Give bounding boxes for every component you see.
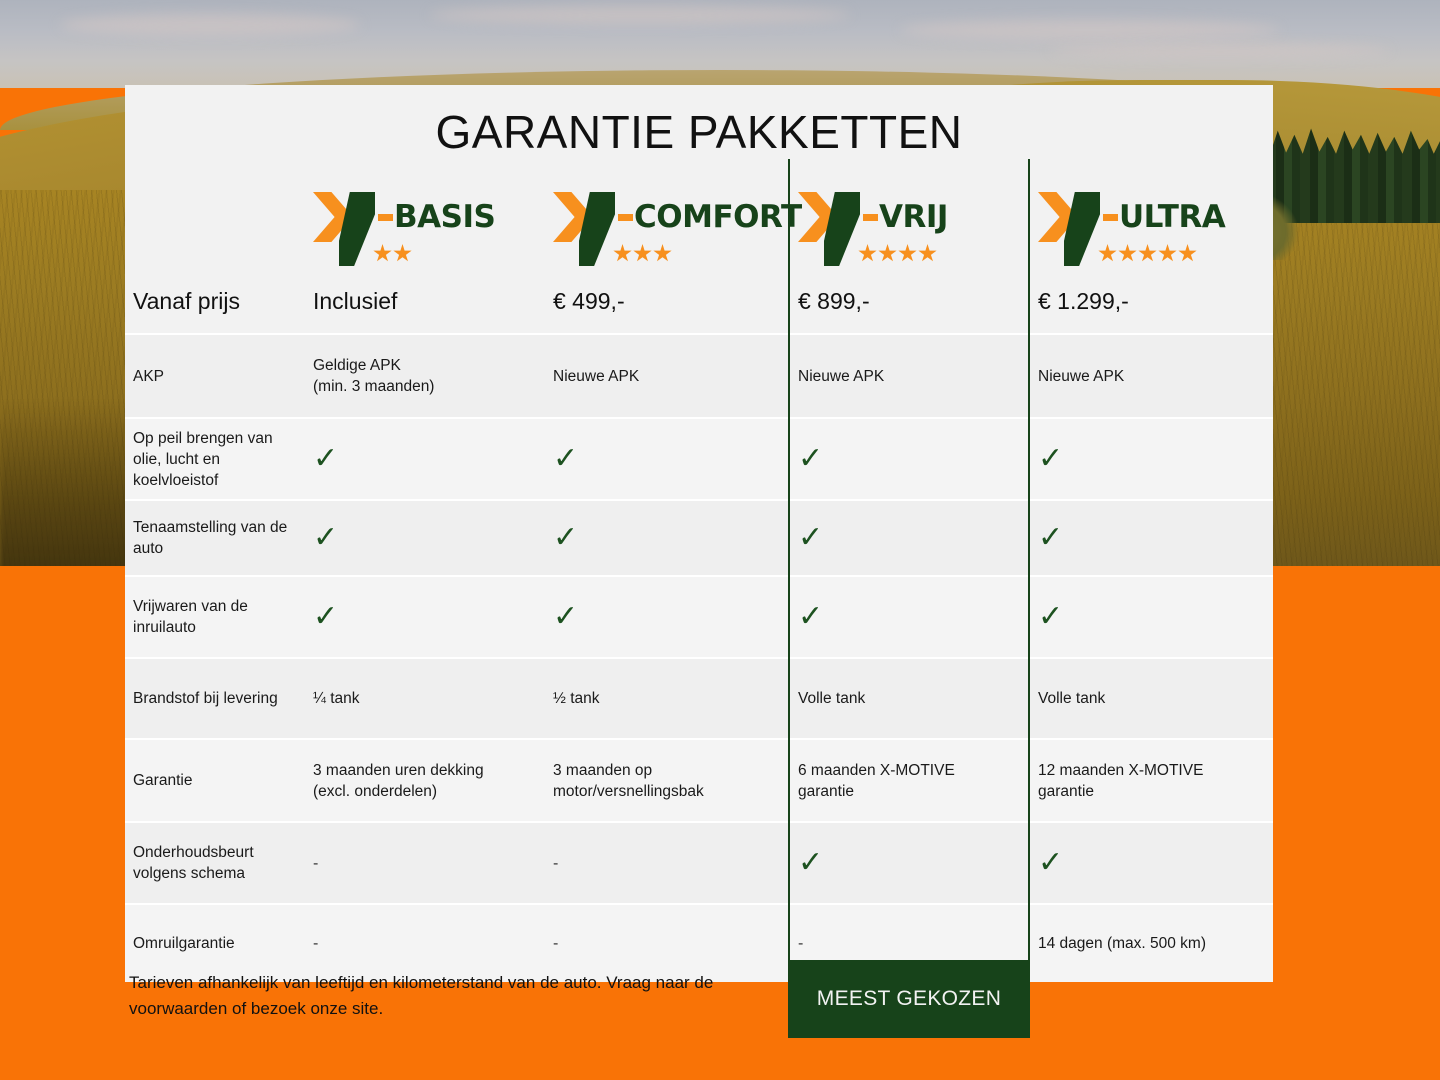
table-cell: € 499,- — [545, 270, 790, 333]
table-cell: ½ tank — [545, 659, 790, 738]
table-cell: - — [305, 823, 545, 903]
star-icon — [1118, 244, 1137, 263]
row-label: Garantie — [125, 740, 305, 821]
table-cell: 12 maanden X-MOTIVEgarantie — [1030, 740, 1273, 821]
table-cell: ✓ — [790, 577, 1030, 657]
chevron-x-icon — [798, 192, 860, 242]
dash-icon — [1103, 214, 1118, 221]
cell-text: € 499,- — [553, 291, 782, 312]
star-icon — [918, 244, 937, 263]
star-icon — [1138, 244, 1157, 263]
most-chosen-badge[interactable]: MEEST GEKOZEN — [788, 960, 1030, 1038]
cloud — [60, 14, 360, 36]
table-row: AKPGeldige APK(min. 3 maanden)Nieuwe APK… — [125, 333, 1273, 417]
pricing-card: GARANTIE PAKKETTEN BASIS — [125, 85, 1273, 953]
dash-icon — [378, 214, 393, 221]
table-cell: ✓ — [545, 419, 790, 499]
table-cell: 3 maanden opmotor/versnellingsbak — [545, 740, 790, 821]
star-icon — [393, 244, 412, 263]
table-body: Vanaf prijsInclusief€ 499,-€ 899,-€ 1.29… — [125, 270, 1273, 982]
cell-text: motor/versnellingsbak — [553, 781, 782, 802]
empty-marker: - — [553, 933, 782, 954]
dash-icon — [863, 214, 878, 221]
row-label: Tenaamstelling van de auto — [125, 501, 305, 575]
cell-text: Volle tank — [1038, 688, 1265, 709]
table-cell: ✓ — [1030, 577, 1273, 657]
table-cell: ✓ — [305, 577, 545, 657]
table-cell: Nieuwe APK — [790, 335, 1030, 417]
star-icon — [613, 244, 632, 263]
highlight-border-left — [788, 159, 790, 982]
table-cell: Nieuwe APK — [1030, 335, 1273, 417]
check-icon: ✓ — [553, 523, 782, 553]
package-header-vrij[interactable]: VRIJ — [790, 186, 1030, 264]
table-row: Vrijwaren van de inruilauto✓✓✓✓ — [125, 575, 1273, 657]
check-icon: ✓ — [1038, 523, 1265, 553]
star-icon — [373, 244, 392, 263]
cell-text: (excl. onderdelen) — [313, 781, 537, 802]
package-name: VRIJ — [879, 202, 948, 233]
cell-text: 12 maanden X-MOTIVE — [1038, 760, 1265, 781]
star-rating — [1098, 244, 1265, 264]
cell-text: Volle tank — [798, 688, 1022, 709]
chevron-x-icon — [553, 192, 615, 242]
page-title: GARANTIE PAKKETTEN — [125, 85, 1273, 159]
table-row: Vanaf prijsInclusief€ 499,-€ 899,-€ 1.29… — [125, 270, 1273, 333]
table-cell: - — [545, 823, 790, 903]
row-label: Onderhoudsbeurt volgens schema — [125, 823, 305, 903]
check-icon: ✓ — [313, 602, 537, 632]
check-icon: ✓ — [1038, 848, 1265, 878]
empty-marker: - — [313, 933, 537, 954]
comparison-table: BASIS COMFORT — [125, 159, 1273, 982]
star-icon — [878, 244, 897, 263]
table-cell: ¼ tank — [305, 659, 545, 738]
table-cell: € 1.299,- — [1030, 270, 1273, 333]
logo-x-comfort: COMFORT — [553, 186, 782, 264]
cloud — [430, 6, 850, 24]
check-icon: ✓ — [313, 444, 537, 474]
cell-text: 3 maanden op — [553, 760, 782, 781]
disclaimer-text: Tarieven afhankelijk van leeftijd en kil… — [129, 970, 769, 1022]
empty-marker: - — [798, 933, 1022, 954]
table-row: Brandstof bij levering¼ tank½ tankVolle … — [125, 657, 1273, 738]
row-label: Brandstof bij levering — [125, 659, 305, 738]
package-name: COMFORT — [634, 202, 802, 233]
star-icon — [653, 244, 672, 263]
row-label: Vanaf prijs — [125, 270, 305, 333]
cell-text: € 899,- — [798, 291, 1022, 312]
cell-text: € 1.299,- — [1038, 291, 1265, 312]
table-cell: Nieuwe APK — [545, 335, 790, 417]
table-cell: 6 maanden X-MOTIVEgarantie — [790, 740, 1030, 821]
table-cell: ✓ — [1030, 823, 1273, 903]
package-header-comfort[interactable]: COMFORT — [545, 186, 790, 264]
star-rating — [858, 244, 1022, 264]
table-cell: ✓ — [1030, 419, 1273, 499]
check-icon: ✓ — [553, 602, 782, 632]
cell-text: (min. 3 maanden) — [313, 376, 537, 397]
table-cell: ✓ — [790, 419, 1030, 499]
check-icon: ✓ — [553, 444, 782, 474]
star-icon — [1098, 244, 1117, 263]
table-cell: 3 maanden uren dekking(excl. onderdelen) — [305, 740, 545, 821]
row-label: AKP — [125, 335, 305, 417]
chevron-x-icon — [1038, 192, 1100, 242]
check-icon: ✓ — [798, 848, 1022, 878]
table-cell: Inclusief — [305, 270, 545, 333]
table-row: Onderhoudsbeurt volgens schema--✓✓ — [125, 821, 1273, 903]
star-icon — [898, 244, 917, 263]
table-cell: Volle tank — [1030, 659, 1273, 738]
cell-text: Inclusief — [313, 291, 537, 312]
cell-text: garantie — [1038, 781, 1265, 802]
cell-text: ½ tank — [553, 688, 782, 709]
empty-marker: - — [313, 853, 537, 874]
table-header-row: BASIS COMFORT — [125, 159, 1273, 270]
cell-text: garantie — [798, 781, 1022, 802]
footer: Tarieven afhankelijk van leeftijd en kil… — [125, 958, 1273, 1053]
highlight-border-right — [1028, 159, 1030, 982]
cell-text: Nieuwe APK — [798, 366, 1022, 387]
check-icon: ✓ — [798, 523, 1022, 553]
star-rating — [613, 244, 782, 264]
cell-text: 3 maanden uren dekking — [313, 760, 537, 781]
star-icon — [633, 244, 652, 263]
check-icon: ✓ — [798, 602, 1022, 632]
package-header-basis[interactable]: BASIS — [305, 186, 545, 264]
table-cell: ✓ — [790, 823, 1030, 903]
cell-text: 6 maanden X-MOTIVE — [798, 760, 1022, 781]
cell-text: ¼ tank — [313, 688, 537, 709]
star-rating — [373, 244, 537, 264]
table-cell: € 899,- — [790, 270, 1030, 333]
logo-x-basis: BASIS — [313, 186, 537, 264]
table-row: Garantie3 maanden uren dekking(excl. ond… — [125, 738, 1273, 821]
star-icon — [858, 244, 877, 263]
package-name: ULTRA — [1119, 202, 1225, 233]
check-icon: ✓ — [313, 523, 537, 553]
table-cell: ✓ — [545, 501, 790, 575]
check-icon: ✓ — [1038, 444, 1265, 474]
table-row: Op peil brengen van olie, lucht en koelv… — [125, 417, 1273, 499]
dash-icon — [618, 214, 633, 221]
package-header-ultra[interactable]: ULTRA — [1030, 186, 1273, 264]
cloud — [1050, 44, 1390, 58]
table-cell: ✓ — [1030, 501, 1273, 575]
cell-text: Nieuwe APK — [1038, 366, 1265, 387]
empty-marker: - — [553, 853, 782, 874]
table-cell: Geldige APK(min. 3 maanden) — [305, 335, 545, 417]
star-icon — [1178, 244, 1197, 263]
check-icon: ✓ — [798, 444, 1022, 474]
row-label: Op peil brengen van olie, lucht en koelv… — [125, 419, 305, 499]
cell-text: 14 dagen (max. 500 km) — [1038, 933, 1265, 954]
table-cell: ✓ — [305, 501, 545, 575]
cloud — [900, 20, 1280, 40]
logo-x-ultra: ULTRA — [1038, 186, 1265, 264]
cell-text: Geldige APK — [313, 355, 537, 376]
table-row: Tenaamstelling van de auto✓✓✓✓ — [125, 499, 1273, 575]
logo-x-vrij: VRIJ — [798, 186, 1022, 264]
package-name: BASIS — [394, 202, 495, 233]
table-cell: ✓ — [305, 419, 545, 499]
table-cell: ✓ — [790, 501, 1030, 575]
row-label: Vrijwaren van de inruilauto — [125, 577, 305, 657]
table-cell: Volle tank — [790, 659, 1030, 738]
check-icon: ✓ — [1038, 602, 1265, 632]
chevron-x-icon — [313, 192, 375, 242]
table-cell: ✓ — [545, 577, 790, 657]
cell-text: Nieuwe APK — [553, 366, 782, 387]
star-icon — [1158, 244, 1177, 263]
